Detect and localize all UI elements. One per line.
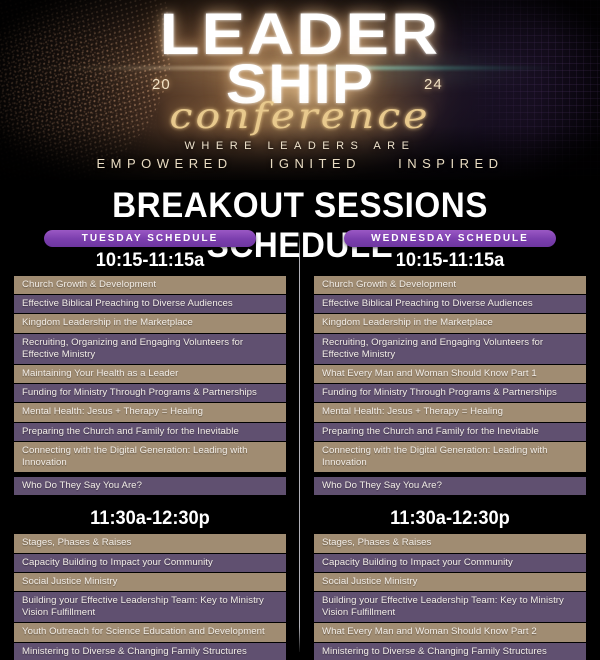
session-row: Capacity Building to Impact your Communi… <box>14 554 286 572</box>
conference-schedule-poster: LEADER SHIP 20 24 conference WHERE LEADE… <box>0 0 600 660</box>
session-row: Ministering to Diverse & Changing Family… <box>314 643 586 660</box>
session-row: Who Do They Say You Are? <box>14 477 286 495</box>
session-list: Church Growth & DevelopmentEffective Bib… <box>14 276 286 495</box>
session-block-wednesday-morning: 10:15-11:15a Church Growth & Development… <box>314 250 586 495</box>
session-row: Who Do They Say You Are? <box>314 477 586 495</box>
session-block-wednesday-midday: 11:30a-12:30p Stages, Phases & RaisesCap… <box>314 508 586 660</box>
schedule-grid: TUESDAY SCHEDULE 10:15-11:15a Church Gro… <box>0 228 600 660</box>
session-row: Recruiting, Organizing and Engaging Volu… <box>314 334 586 364</box>
logo-year-prefix: 20 <box>152 76 171 93</box>
tagline-primary: WHERE LEADERS ARE <box>0 140 600 152</box>
logo-script-conference: conference <box>0 95 600 136</box>
session-block-tuesday-morning: 10:15-11:15a Church Growth & Development… <box>14 250 286 495</box>
session-row: What Every Man and Woman Should Know Par… <box>314 365 586 383</box>
session-row: Connecting with the Digital Generation: … <box>14 442 286 472</box>
session-row: Recruiting, Organizing and Engaging Volu… <box>14 334 286 364</box>
session-row: Stages, Phases & Raises <box>314 534 586 552</box>
schedule-column-tuesday: TUESDAY SCHEDULE 10:15-11:15a Church Gro… <box>0 228 300 660</box>
logo-year-suffix: 24 <box>424 76 443 93</box>
session-block-tuesday-midday: 11:30a-12:30p Stages, Phases & RaisesCap… <box>14 508 286 660</box>
session-row: Building your Effective Leadership Team:… <box>14 592 286 622</box>
session-row: Capacity Building to Impact your Communi… <box>314 554 586 572</box>
session-row: Preparing the Church and Family for the … <box>14 423 286 441</box>
session-row: Preparing the Church and Family for the … <box>314 423 586 441</box>
tagline-word-ignited: IGNITED <box>270 156 361 171</box>
session-row: Effective Biblical Preaching to Diverse … <box>14 295 286 313</box>
session-row: Funding for Ministry Through Programs & … <box>14 384 286 402</box>
session-list: Church Growth & DevelopmentEffective Bib… <box>314 276 586 495</box>
session-row: Kingdom Leadership in the Marketplace <box>14 314 286 332</box>
session-row: What Every Man and Woman Should Know Par… <box>314 623 586 641</box>
session-row: Maintaining Your Health as a Leader <box>14 365 286 383</box>
day-header-wednesday: WEDNESDAY SCHEDULE <box>344 230 556 247</box>
session-list: Stages, Phases & RaisesCapacity Building… <box>14 534 286 660</box>
schedule-column-wednesday: WEDNESDAY SCHEDULE 10:15-11:15a Church G… <box>300 228 600 660</box>
session-row: Stages, Phases & Raises <box>14 534 286 552</box>
session-row: Youth Outreach for Science Education and… <box>14 623 286 641</box>
session-row: Church Growth & Development <box>314 276 586 294</box>
tagline-word-inspired: INSPIRED <box>398 156 503 171</box>
time-heading: 10:15-11:15a <box>319 250 580 272</box>
conference-logo: LEADER SHIP 20 24 conference WHERE LEADE… <box>0 0 600 180</box>
session-row: Building your Effective Leadership Team:… <box>314 592 586 622</box>
session-row: Church Growth & Development <box>14 276 286 294</box>
session-row: Mental Health: Jesus + Therapy = Healing <box>14 403 286 421</box>
session-row: Funding for Ministry Through Programs & … <box>314 384 586 402</box>
tagline-word-empowered: EMPOWERED <box>96 156 232 171</box>
session-row: Connecting with the Digital Generation: … <box>314 442 586 472</box>
time-heading: 11:30a-12:30p <box>319 508 580 530</box>
tagline-keywords: EMPOWERED IGNITED INSPIRED <box>0 156 600 171</box>
session-row: Mental Health: Jesus + Therapy = Healing <box>314 403 586 421</box>
day-header-tuesday: TUESDAY SCHEDULE <box>44 230 256 247</box>
session-row: Social Justice Ministry <box>314 573 586 591</box>
session-row: Social Justice Ministry <box>14 573 286 591</box>
hero-banner: LEADER SHIP 20 24 conference WHERE LEADE… <box>0 0 600 180</box>
session-row: Ministering to Diverse & Changing Family… <box>14 643 286 660</box>
session-row: Kingdom Leadership in the Marketplace <box>314 314 586 332</box>
time-heading: 11:30a-12:30p <box>19 508 280 530</box>
time-heading: 10:15-11:15a <box>19 250 280 272</box>
session-row: Effective Biblical Preaching to Diverse … <box>314 295 586 313</box>
session-list: Stages, Phases & RaisesCapacity Building… <box>314 534 586 660</box>
